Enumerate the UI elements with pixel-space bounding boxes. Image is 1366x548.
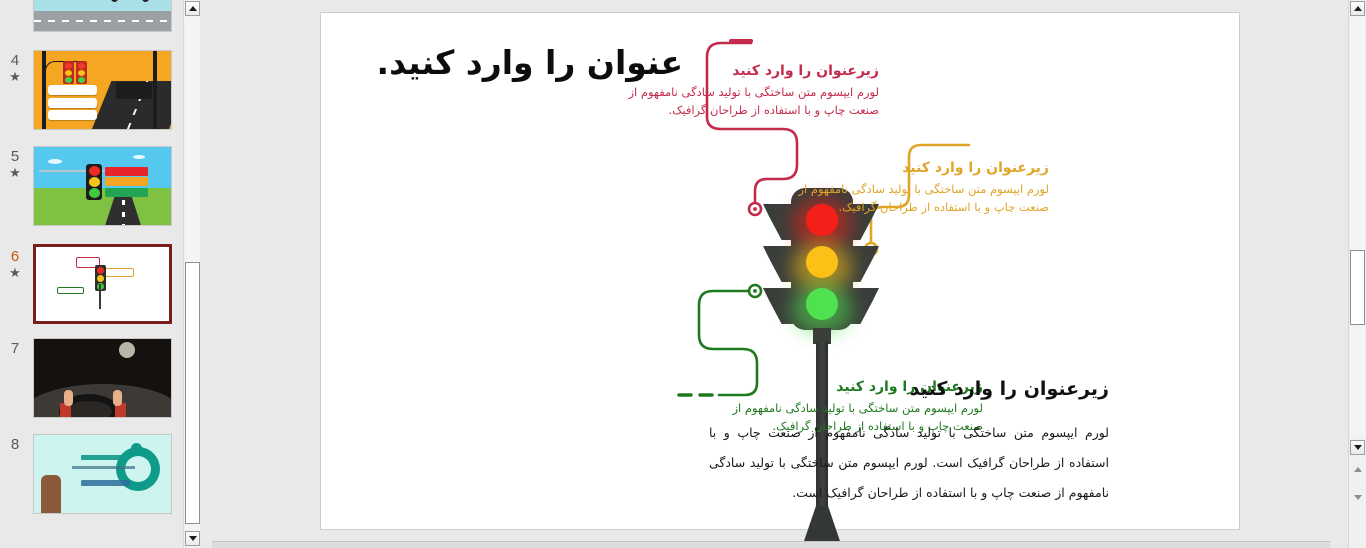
green-visor-right: [849, 288, 879, 324]
star-icon: ★: [0, 265, 30, 280]
double-chevron-up-icon: [1354, 467, 1362, 472]
pane-divider: [200, 0, 212, 548]
slide-thumbnail-pane[interactable]: 3 4 ★: [0, 0, 182, 548]
status-strip: [212, 541, 1330, 548]
mini-slide-night-driving: [34, 339, 171, 417]
triangle-up-icon: [189, 6, 197, 11]
thumbnail-frame[interactable]: [33, 50, 172, 130]
callout-red-body: لورم ایپسوم متن ساختگی با تولید سادگی نا…: [619, 83, 879, 119]
slide-canvas-area: عنوان را وارد کنید. زیرعنوان را وارد کنی…: [212, 0, 1330, 541]
thumbnail-number: 5: [0, 148, 30, 165]
amber-lamp: [806, 246, 838, 278]
triangle-up-icon: [1354, 6, 1362, 11]
active-slide[interactable]: عنوان را وارد کنید. زیرعنوان را وارد کنی…: [320, 12, 1240, 530]
scroll-up-button[interactable]: [185, 1, 200, 16]
scrollbar-track[interactable]: [1350, 17, 1365, 437]
main-text-block[interactable]: زیرعنوان را وارد کنید لورم ایپسوم متن سا…: [709, 378, 1109, 508]
thumbnail-pane-scrollbar[interactable]: [183, 0, 200, 548]
amber-visor-right: [849, 246, 879, 282]
thumbnail-frame-selected[interactable]: [33, 244, 172, 324]
thumbnail-frame[interactable]: [33, 338, 172, 418]
scroll-up-button[interactable]: [1350, 1, 1365, 16]
main-block-body: لورم ایپسوم متن ساختگی با تولید سادگی نا…: [709, 418, 1109, 508]
scroll-down-button[interactable]: [185, 531, 200, 546]
mini-slide-bus-scene: [34, 0, 171, 31]
star-icon: ★: [0, 69, 30, 84]
thumbnail-number: 4: [0, 52, 30, 69]
previous-slide-button[interactable]: [1350, 462, 1365, 477]
thumbnail-number: 8: [0, 436, 30, 453]
triangle-down-icon: [1354, 445, 1362, 450]
scroll-down-button[interactable]: [1350, 440, 1365, 455]
scrollbar-thumb[interactable]: [1350, 250, 1365, 325]
green-lamp: [806, 288, 838, 320]
thumbnail-number: 6: [0, 248, 30, 265]
main-block-heading: زیرعنوان را وارد کنید: [709, 378, 1109, 400]
callout-amber-heading: زیرعنوان را وارد کنید: [787, 160, 1049, 176]
thumbnail-frame[interactable]: [33, 0, 172, 32]
thumbnail-number: 7: [0, 340, 30, 357]
next-slide-button[interactable]: [1350, 490, 1365, 505]
callout-amber-body: لورم ایپسوم متن ساختگی با تولید سادگی نا…: [787, 180, 1049, 216]
thumbnail-frame[interactable]: [33, 146, 172, 226]
mini-slide-white-traffic-callouts: [36, 247, 169, 321]
double-chevron-down-icon: [1354, 495, 1362, 500]
triangle-down-icon: [189, 536, 197, 541]
green-visor-left: [763, 288, 793, 324]
callout-red-heading: زیرعنوان را وارد کنید: [619, 63, 879, 79]
slide-view-scrollbar[interactable]: [1348, 0, 1366, 548]
callout-red[interactable]: زیرعنوان را وارد کنید لورم ایپسوم متن سا…: [619, 63, 879, 119]
callout-amber[interactable]: زیرعنوان را وارد کنید لورم ایپسوم متن سا…: [787, 160, 1049, 216]
thumbnail-frame[interactable]: [33, 434, 172, 514]
mini-slide-sky-road-traffic: [34, 147, 171, 225]
mini-slide-branding: [34, 435, 171, 513]
amber-visor-left: [763, 246, 793, 282]
scrollbar-thumb[interactable]: [185, 262, 200, 524]
mini-slide-orange-traffic: [34, 51, 171, 129]
star-icon: ★: [0, 165, 30, 180]
presentation-window: 3 4 ★: [0, 0, 1366, 548]
